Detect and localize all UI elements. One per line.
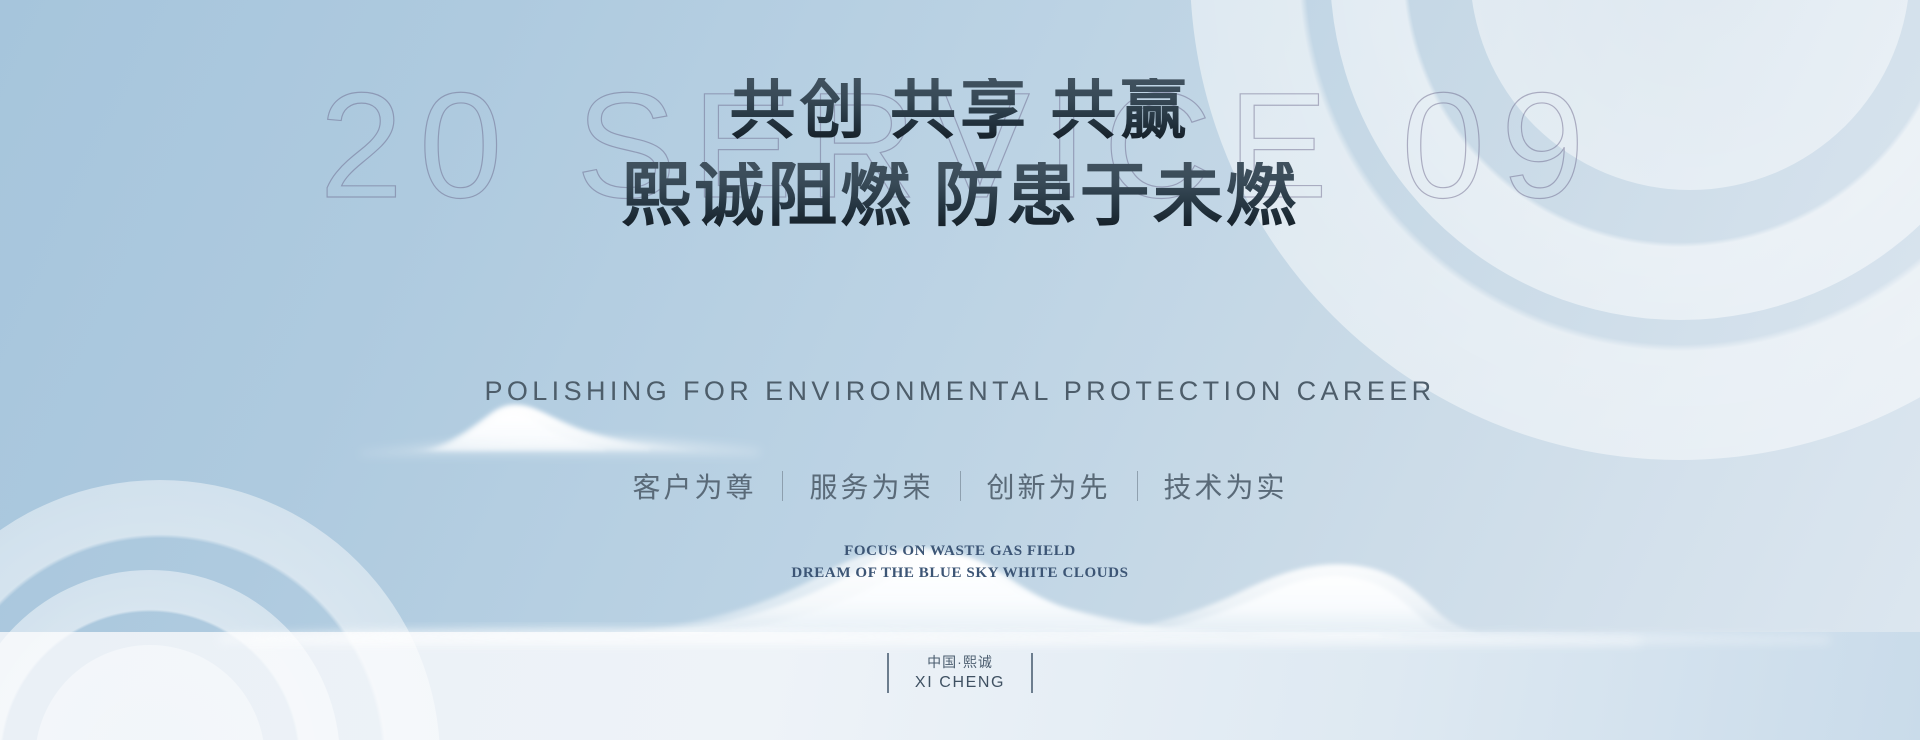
slogan-block: FOCUS ON WASTE GAS FIELD DREAM OF THE BL…	[0, 541, 1920, 585]
slogan-line-1: FOCUS ON WASTE GAS FIELD	[0, 541, 1920, 563]
core-value-separator	[782, 471, 783, 501]
logo-text-group: 中国·熙诚 XI CHENG	[915, 652, 1005, 694]
core-value-item: 创新为先	[961, 466, 1137, 506]
headline-line-1: 共创 共享 共赢	[0, 78, 1920, 144]
english-strapline: POLISHING FOR ENVIRONMENTAL PROTECTION C…	[0, 376, 1920, 407]
core-value-item: 服务为荣	[783, 466, 959, 506]
slogan-line-2: DREAM OF THE BLUE SKY WHITE CLOUDS	[0, 563, 1920, 585]
brand-logo-lockup: 中国·熙诚 XI CHENG	[0, 652, 1920, 694]
headline-block: 共创 共享 共赢 熙诚阻燃 防患于未燃	[0, 78, 1920, 232]
logo-chinese-name: 中国·熙诚	[915, 652, 1005, 673]
core-value-item: 技术为实	[1138, 466, 1314, 506]
logo-rule-left	[887, 653, 889, 693]
promotional-banner: 20 SERVICE 09 共创 共享 共赢 熙诚阻燃 防患于未燃 POLISH…	[0, 0, 1920, 740]
core-values-row: 客户为尊 服务为荣 创新为先 技术为实	[0, 466, 1920, 506]
logo-english-name: XI CHENG	[915, 673, 1005, 694]
headline-line-2: 熙诚阻燃 防患于未燃	[0, 162, 1920, 232]
core-value-item: 客户为尊	[606, 466, 782, 506]
core-value-separator	[1137, 471, 1138, 501]
logo-rule-right	[1031, 653, 1033, 693]
core-value-separator	[960, 471, 961, 501]
